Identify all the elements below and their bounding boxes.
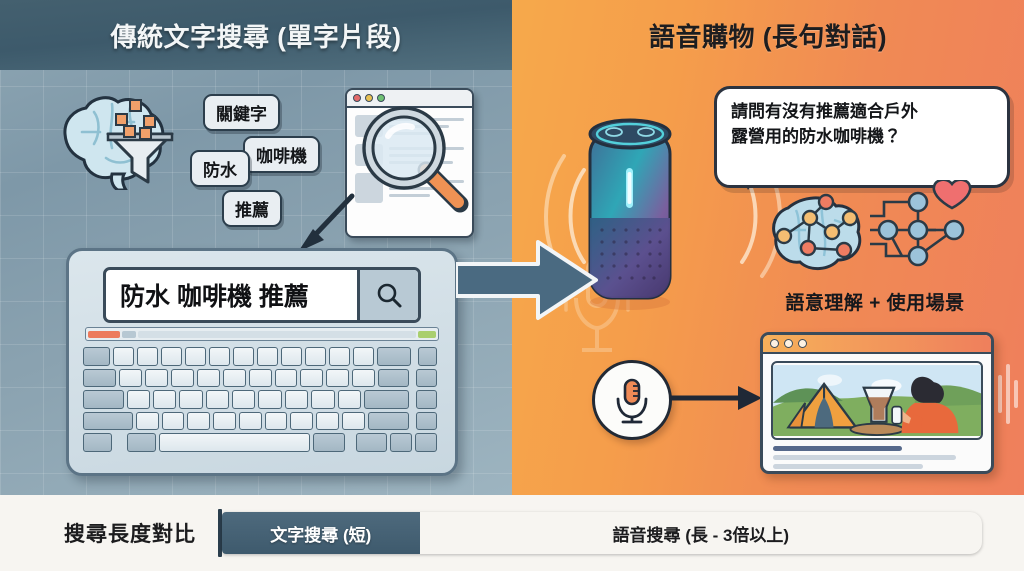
result-card-text-lines (763, 440, 991, 474)
heart-icon (934, 180, 970, 208)
semantic-label: 語意理解 + 使用場景 (760, 288, 990, 315)
right-header: 語音購物 (長句對話) (512, 0, 1024, 70)
search-button[interactable] (357, 270, 418, 320)
infographic-root: 關鍵字 咖啡機 防水 推薦 (0, 0, 1024, 571)
search-icon (375, 281, 403, 309)
bottom-comparison-bar: 搜尋長度對比 文字搜尋 (短) 語音搜尋 (長 - 3倍以上) (0, 495, 1024, 571)
magnifier-icon (358, 100, 478, 225)
left-panel-text-search: 關鍵字 咖啡機 防水 推薦 (0, 0, 512, 495)
search-input-value: 防水 咖啡機 推薦 (106, 277, 357, 313)
traffic-dot-green (798, 339, 807, 348)
keyword-chip-1[interactable]: 咖啡機 (243, 136, 320, 173)
result-card-image (771, 361, 983, 440)
speech-bubble-line-1: 露營用的防水咖啡機？ (731, 125, 993, 150)
left-header: 傳統文字搜尋 (單字片段) (0, 0, 512, 70)
keyword-chip-0[interactable]: 關鍵字 (203, 94, 280, 131)
fn-key-green (418, 331, 436, 338)
brain-funnel-icon (56, 78, 182, 190)
speech-bubble-line-0: 請問有沒有推薦適合戶外 (731, 100, 993, 125)
meter-segment-text: 文字搜尋 (短) (222, 512, 420, 554)
result-card[interactable] (760, 332, 994, 474)
speech-bubble: 請問有沒有推薦適合戶外 露營用的防水咖啡機？ (714, 86, 1010, 188)
traffic-dot-yellow (784, 339, 793, 348)
keyword-chip-3[interactable]: 推薦 (222, 190, 282, 227)
keyword-chip-2[interactable]: 防水 (190, 150, 250, 187)
comparison-label: 搜尋長度對比 (64, 518, 196, 548)
arrow-down-left-icon (292, 192, 360, 256)
meter-segment-voice: 語音搜尋 (長 - 3倍以上) (420, 512, 982, 554)
microphone-button[interactable] (592, 360, 672, 440)
search-card: 防水 咖啡機 推薦 (66, 248, 458, 476)
fn-key-red (88, 331, 120, 338)
fn-key-long (138, 331, 416, 338)
length-meter: 文字搜尋 (短) 語音搜尋 (長 - 3倍以上) (222, 512, 982, 554)
arrow-right-large-icon (456, 238, 602, 322)
microphone-icon (611, 376, 653, 424)
result-card-titlebar (763, 335, 991, 354)
left-header-title: 傳統文字搜尋 (單字片段) (110, 17, 401, 54)
search-input[interactable]: 防水 咖啡機 推薦 (103, 267, 421, 323)
fn-key-gray (122, 331, 136, 338)
keyboard-function-row (85, 327, 439, 341)
keyboard-icon (83, 347, 437, 452)
ai-brain-network-icon (766, 180, 988, 280)
right-header-title: 語音購物 (長句對話) (649, 17, 887, 54)
traffic-dot-red (770, 339, 779, 348)
arrow-right-icon (668, 382, 764, 414)
